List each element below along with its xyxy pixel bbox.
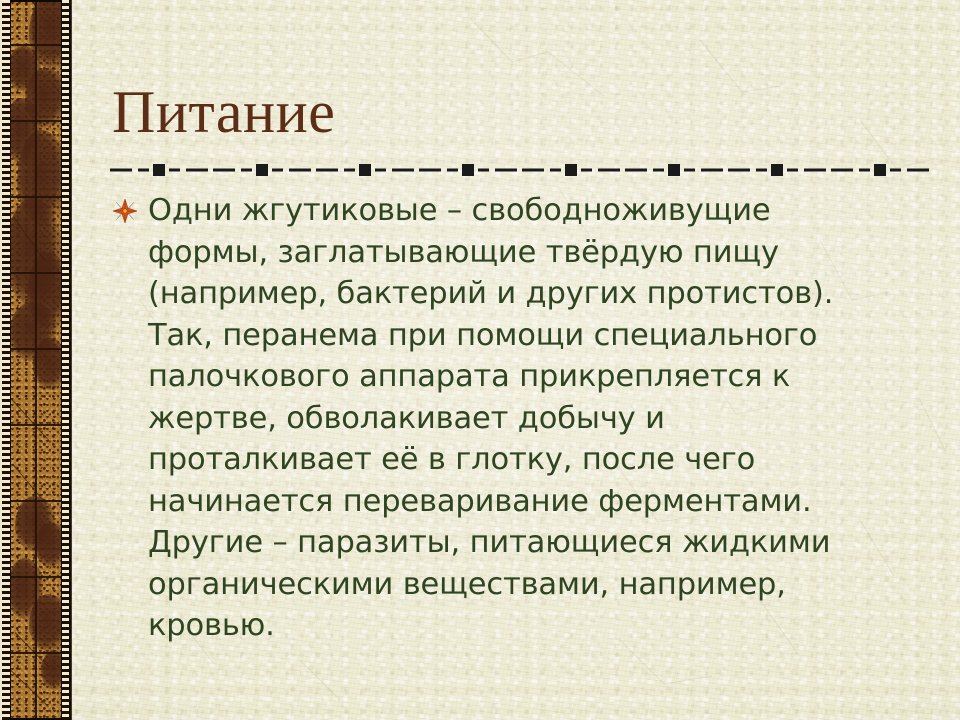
body-line: органическими веществами, например,: [148, 564, 932, 606]
body-paragraph: Одни жгутиковые – свободноживущие формы,…: [148, 190, 932, 647]
border-tile-field: [11, 2, 61, 718]
body-line: начинается переваривание ферментами.: [148, 481, 932, 523]
border-inner-edge: [69, 0, 72, 720]
border-grid-lines: [11, 2, 61, 718]
body-line: жертве, обволакивает добычу и: [148, 398, 932, 440]
body-line: Одни жгутиковые – свободноживущие: [148, 190, 932, 232]
bullet-list-item: Одни жгутиковые – свободноживущие формы,…: [112, 190, 932, 647]
decorative-left-border: [0, 0, 72, 720]
border-grid-hline: [11, 500, 61, 502]
border-left-rail: [1, 0, 10, 720]
slide-title: Питание: [112, 82, 912, 142]
body-line: палочкового аппарата прикрепляется к: [148, 356, 932, 398]
border-grid-hline: [11, 120, 61, 122]
border-grid-hline: [11, 44, 61, 46]
border-grid-hline: [11, 576, 61, 578]
border-rail-line-left: [0, 0, 2, 720]
body-line: формы, заглатывающие твёрдую пищу: [148, 232, 932, 274]
body-line: Так, перанема при помощи специального: [148, 315, 932, 357]
border-grid-hline: [11, 272, 61, 274]
body-line: (например, бактерий и других протистов).: [148, 273, 932, 315]
body-line: Другие – паразиты, питающиеся жидкими: [148, 522, 932, 564]
slide: Питание: [0, 0, 960, 720]
border-grid-hline: [11, 348, 61, 350]
dashed-divider: [108, 162, 932, 178]
border-grid-hline: [11, 196, 61, 198]
border-grid-hline: [11, 652, 61, 654]
body-line: кровью.: [148, 605, 932, 647]
border-grid-hline: [11, 424, 61, 426]
compass-star-icon: [112, 198, 138, 224]
border-grid-vline: [35, 2, 37, 718]
body-line: проталкивает её в глотку, после чего: [148, 439, 932, 481]
